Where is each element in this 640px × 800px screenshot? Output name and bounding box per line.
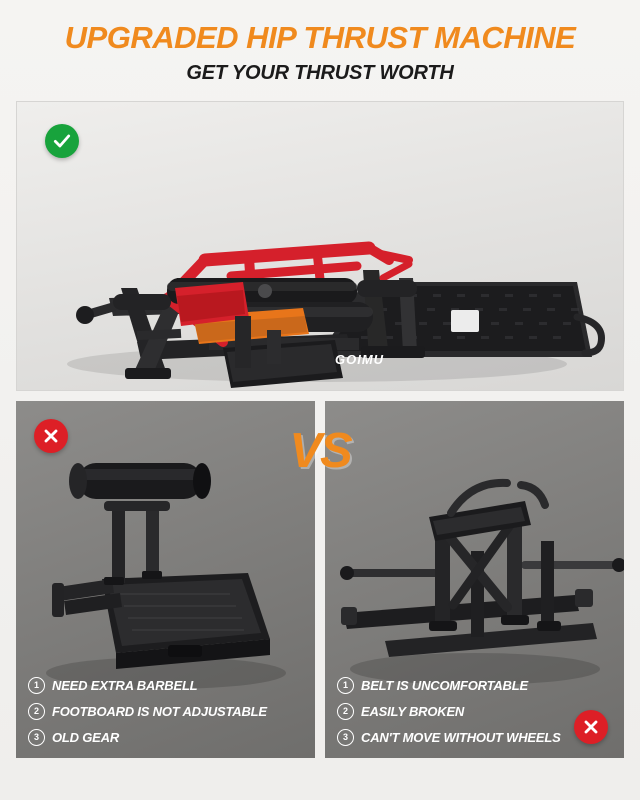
cross-badge-left (34, 419, 68, 453)
list-item: 3 CAN'T MOVE WITHOUT WHEELS (337, 729, 614, 746)
bullet-number: 2 (337, 703, 354, 720)
bullet-text: FOOTBOARD IS NOT ADJUSTABLE (52, 704, 267, 719)
brand-logo: GOIMU (335, 352, 384, 367)
competitor-right-bullets: 1 BELT IS UNCOMFORTABLE 2 EASILY BROKEN … (337, 677, 614, 748)
competitor-left-panel: 1 NEED EXTRA BARBELL 2 FOOTBOARD IS NOT … (16, 401, 315, 758)
comparison-row: VS (16, 401, 624, 758)
competitor-left-bullets: 1 NEED EXTRA BARBELL 2 FOOTBOARD IS NOT … (28, 677, 305, 748)
list-item: 1 BELT IS UNCOMFORTABLE (337, 677, 614, 694)
bullet-number: 1 (337, 677, 354, 694)
cross-icon (41, 426, 61, 446)
bullet-text: CAN'T MOVE WITHOUT WHEELS (361, 730, 561, 745)
bullet-number: 2 (28, 703, 45, 720)
header: UPGRADED HIP THRUST MACHINE GET YOUR THR… (16, 0, 624, 83)
list-item: 2 FOOTBOARD IS NOT ADJUSTABLE (28, 703, 305, 720)
list-item: 1 NEED EXTRA BARBELL (28, 677, 305, 694)
bullet-text: EASILY BROKEN (361, 704, 464, 719)
page-title: UPGRADED HIP THRUST MACHINE (16, 22, 624, 55)
list-item: 3 OLD GEAR (28, 729, 305, 746)
bullet-text: BELT IS UNCOMFORTABLE (361, 678, 528, 693)
bullet-number: 1 (28, 677, 45, 694)
check-icon (52, 131, 72, 151)
list-item: 2 EASILY BROKEN (337, 703, 614, 720)
product-comparison-page: UPGRADED HIP THRUST MACHINE GET YOUR THR… (0, 0, 640, 800)
bullet-number: 3 (337, 729, 354, 746)
featured-product-panel: GOIMU (16, 101, 624, 391)
bullet-text: OLD GEAR (52, 730, 119, 745)
competitor-right-panel: 1 BELT IS UNCOMFORTABLE 2 EASILY BROKEN … (325, 401, 624, 758)
page-subtitle: GET YOUR THRUST WORTH (16, 63, 624, 83)
hip-thrust-machine-illustration (17, 102, 623, 390)
bullet-text: NEED EXTRA BARBELL (52, 678, 197, 693)
vs-label: VS (289, 423, 350, 479)
check-badge (45, 124, 79, 158)
bullet-number: 3 (28, 729, 45, 746)
